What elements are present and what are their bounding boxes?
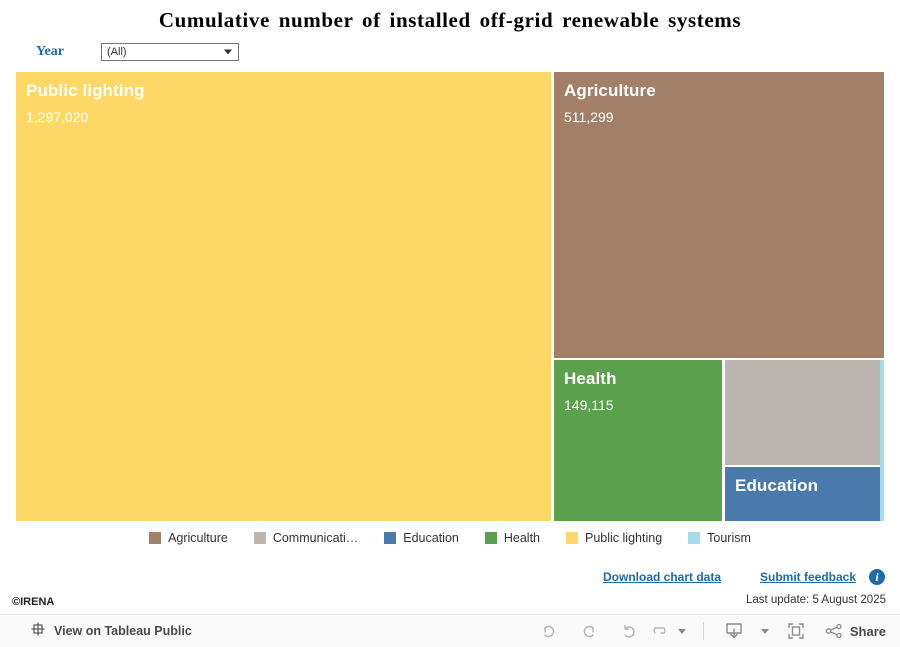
toolbar-divider xyxy=(703,622,704,640)
treemap-cell-label xyxy=(880,360,884,369)
fullscreen-button[interactable] xyxy=(776,616,816,646)
revert-icon xyxy=(619,621,639,641)
legend-swatch xyxy=(688,532,700,544)
year-filter-select[interactable]: (All) xyxy=(101,43,239,61)
treemap-cell-public-lighting[interactable]: Public lighting 1,297,020 xyxy=(16,72,551,521)
share-button[interactable]: Share xyxy=(824,621,886,641)
chevron-down-icon xyxy=(224,50,232,55)
legend-label: Education xyxy=(403,531,459,545)
treemap-cell-value: 149,115 xyxy=(554,389,722,413)
copyright-text: ©IRENA xyxy=(12,596,54,608)
treemap-cell-value: 511,299 xyxy=(554,101,884,125)
fullscreen-icon xyxy=(785,620,807,642)
treemap-cell-health[interactable]: Health 149,115 xyxy=(554,360,722,521)
legend-item-public-lighting[interactable]: Public lighting xyxy=(566,531,662,545)
treemap-cell-label: Education xyxy=(725,467,882,496)
legend-item-agriculture[interactable]: Agriculture xyxy=(149,531,228,545)
submit-feedback-link[interactable]: Submit feedback xyxy=(760,570,856,584)
refresh-button[interactable] xyxy=(649,616,671,646)
legend-item-education[interactable]: Education xyxy=(384,531,459,545)
legend-label: Communicati… xyxy=(273,531,358,545)
legend-label: Agriculture xyxy=(168,531,228,545)
undo-button[interactable] xyxy=(529,616,569,646)
legend-swatch xyxy=(485,532,497,544)
legend-item-health[interactable]: Health xyxy=(485,531,540,545)
treemap-cell-label: Public lighting xyxy=(16,72,551,101)
download-button[interactable] xyxy=(714,616,754,646)
year-filter: Year (All) xyxy=(36,43,239,61)
legend-label: Tourism xyxy=(707,531,751,545)
treemap-cell-value: 1,297,020 xyxy=(16,101,551,125)
treemap-cell-label xyxy=(725,360,882,369)
page-title: Cumulative number of installed off-grid … xyxy=(0,8,900,33)
download-chart-data-link[interactable]: Download chart data xyxy=(603,570,721,584)
year-filter-label: Year xyxy=(36,44,101,60)
view-on-tableau-public-button[interactable]: View on Tableau Public xyxy=(30,621,192,642)
refresh-icon xyxy=(650,621,670,641)
treemap-cell-communications[interactable] xyxy=(725,360,882,465)
download-dropdown-button[interactable] xyxy=(754,616,776,646)
revert-button[interactable] xyxy=(609,616,649,646)
legend-label: Public lighting xyxy=(585,531,662,545)
legend-item-tourism[interactable]: Tourism xyxy=(688,531,751,545)
legend-swatch xyxy=(384,532,396,544)
bottom-toolbar: View on Tableau Public xyxy=(0,614,900,647)
chart-legend: Agriculture Communicati… Education Healt… xyxy=(0,531,900,545)
download-icon xyxy=(723,620,745,642)
treemap-cell-education[interactable]: Education xyxy=(725,467,882,521)
redo-icon xyxy=(579,621,599,641)
undo-icon xyxy=(539,621,559,641)
info-icon[interactable]: i xyxy=(869,569,885,585)
tableau-visualization: Cumulative number of installed off-grid … xyxy=(0,0,900,647)
toolbar-actions: Share xyxy=(529,616,886,646)
treemap-chart: Public lighting 1,297,020 Agriculture 51… xyxy=(16,72,884,521)
treemap-cell-label: Health xyxy=(554,360,722,389)
legend-swatch xyxy=(566,532,578,544)
share-label: Share xyxy=(850,624,886,639)
view-on-tableau-public-label: View on Tableau Public xyxy=(54,624,192,638)
tableau-logo-icon xyxy=(30,621,46,642)
chevron-down-icon xyxy=(678,629,686,634)
treemap-cell-agriculture[interactable]: Agriculture 511,299 xyxy=(554,72,884,358)
year-filter-value: (All) xyxy=(102,44,127,60)
legend-swatch xyxy=(149,532,161,544)
legend-label: Health xyxy=(504,531,540,545)
legend-item-communications[interactable]: Communicati… xyxy=(254,531,358,545)
chevron-down-icon xyxy=(761,629,769,634)
redo-button[interactable] xyxy=(569,616,609,646)
treemap-cell-tourism[interactable] xyxy=(880,360,884,521)
last-update-text: Last update: 5 August 2025 xyxy=(746,594,886,606)
legend-swatch xyxy=(254,532,266,544)
refresh-dropdown-button[interactable] xyxy=(671,616,693,646)
treemap-cell-label: Agriculture xyxy=(554,72,884,101)
share-icon xyxy=(824,621,844,641)
